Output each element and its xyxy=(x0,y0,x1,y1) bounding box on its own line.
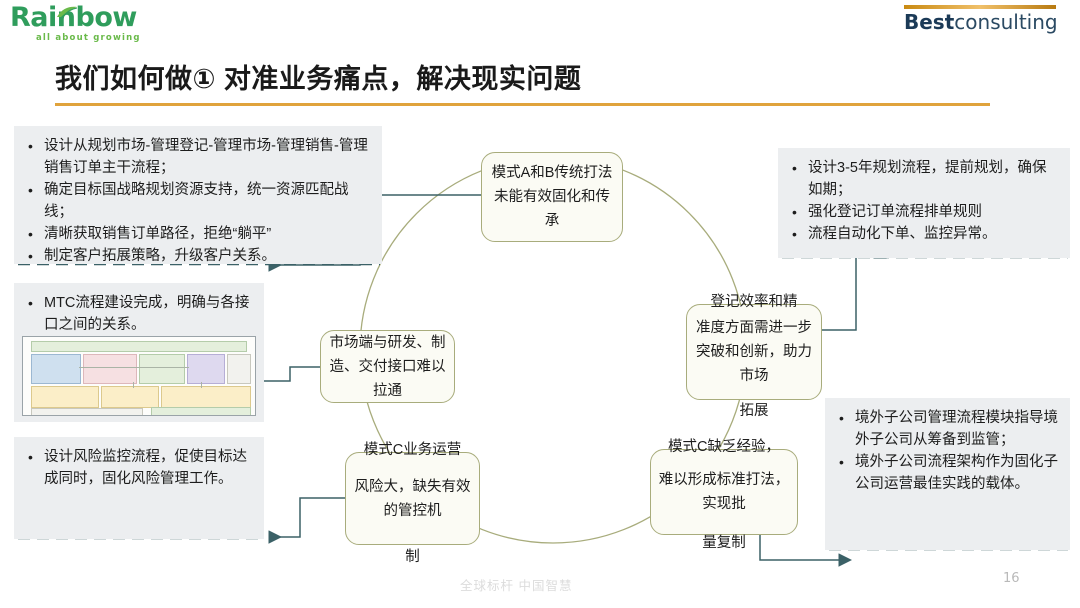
list-item: 设计从规划市场-管理登记-管理市场-管理销售-管理销售订单主干流程； xyxy=(44,135,372,179)
list-item: MTC流程建设完成，明确与各接口之间的关系。 xyxy=(44,292,254,336)
pain-point-node-top: 模式A和B传统打法未能有效固化和传承 xyxy=(481,152,623,242)
best-logo-bold: Best xyxy=(904,10,954,34)
pain-point-node-right-tail: 拓展 xyxy=(686,399,822,423)
list-item: 清晰获取销售订单路径，拒绝“躺平” xyxy=(44,223,372,245)
pain-point-node-bottom-right-tail: 量复制 xyxy=(650,531,798,555)
page-number: 16 xyxy=(1003,571,1020,586)
page-title: 我们如何做① 对准业务痛点，解决现实问题 xyxy=(55,57,581,96)
list-item: 强化登记订单流程排单规则 xyxy=(808,201,1060,223)
list-item: 设计3-5年规划流程，提前规划，确保如期； xyxy=(808,157,1060,201)
solution-box-bottom-left: 设计风险监控流程，促使目标达成同时，固化风险管理工作。 xyxy=(14,437,264,539)
pain-point-node-bottom-right-head: 模式C缺乏经验， xyxy=(645,435,803,459)
pain-point-node-bottom-right: 难以形成标准打法，实现批 xyxy=(650,449,798,535)
best-consulting-logo: Bestconsulting xyxy=(904,5,1064,34)
solution-box-top-left: 设计从规划市场-管理登记-管理市场-管理销售-管理销售订单主干流程； 确定目标国… xyxy=(14,126,382,264)
pain-point-node-right-head: 登记效率和精 xyxy=(686,290,822,314)
leaf-icon xyxy=(56,6,78,18)
solution-box-top-right: 设计3-5年规划流程，提前规划，确保如期； 强化登记订单流程排单规则 流程自动化… xyxy=(778,148,1070,258)
pain-point-node-bottom-left-head: 模式C业务运营 xyxy=(345,438,480,462)
rainbow-logo-tagline: all about growing xyxy=(36,33,240,43)
list-item: 流程自动化下单、监控异常。 xyxy=(808,223,1060,245)
solution-box-bottom-right: 境外子公司管理流程模块指导境外子公司从筹备到监管； 境外子公司流程架构作为固化子… xyxy=(825,398,1070,550)
rainbow-logo-word: Rainbow xyxy=(10,4,240,32)
pain-point-node-right: 准度方面需进一步突破和创新，助力市场 xyxy=(686,304,822,400)
title-underline xyxy=(55,103,990,106)
list-item: 确定目标国战略规划资源支持，统一资源匹配战线； xyxy=(44,179,372,223)
best-logo-light: consulting xyxy=(954,10,1057,34)
slide-canvas: Rainbow all about growing Bestconsulting… xyxy=(0,0,1080,608)
list-item: 制定客户拓展策略，升级客户关系。 xyxy=(44,245,372,267)
pain-point-node-bottom-left-tail: 制 xyxy=(345,545,480,569)
list-item: 境外子公司流程架构作为固化子公司运营最佳实践的载体。 xyxy=(855,451,1060,495)
mtc-process-thumbnail xyxy=(22,336,256,416)
rainbow-logo: Rainbow all about growing xyxy=(10,4,240,46)
footer-slogan: 全球标杆 中国智慧 xyxy=(460,575,572,594)
best-logo-bar xyxy=(904,5,1056,9)
pain-point-node-bottom-left: 风险大，缺失有效的管控机 xyxy=(345,452,480,545)
list-item: 设计风险监控流程，促使目标达成同时，固化风险管理工作。 xyxy=(44,446,254,490)
list-item: 境外子公司管理流程模块指导境外子公司从筹备到监管； xyxy=(855,407,1060,451)
pain-point-node-left: 市场端与研发、制造、交付接口难以拉通 xyxy=(320,330,455,403)
